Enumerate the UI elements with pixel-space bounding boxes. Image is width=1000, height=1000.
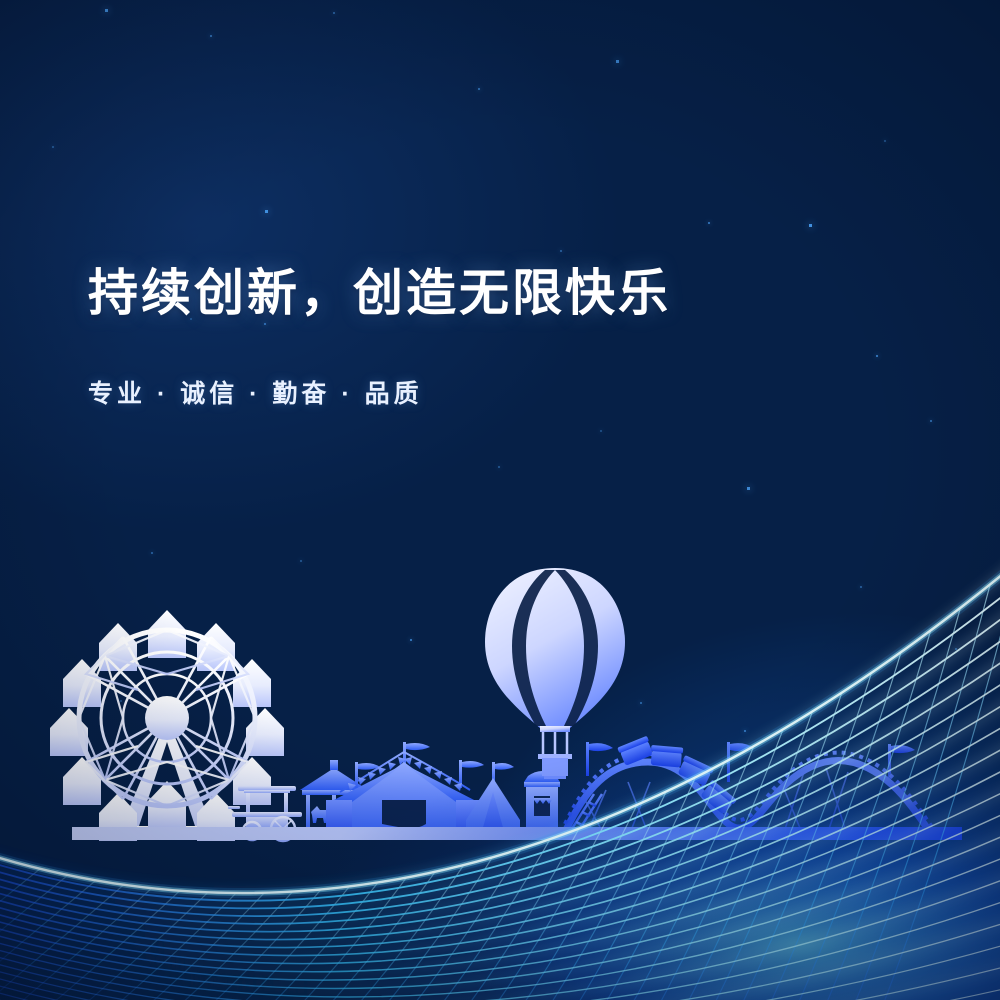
wave-rib [37, 891, 180, 1000]
wave-rib [12, 888, 152, 1000]
background-base [0, 0, 1000, 1000]
star-particle [708, 222, 710, 224]
wave-rib [650, 711, 812, 1000]
wave-line [0, 995, 1000, 1000]
wave-rib [277, 872, 435, 1000]
vendor-cart [228, 786, 302, 841]
wave-rib [196, 887, 350, 1000]
wave-line [0, 963, 1000, 1000]
star-particle [52, 146, 54, 148]
starfield [0, 0, 1000, 1000]
wave-line [0, 761, 1000, 963]
star-particle [955, 648, 957, 650]
wave-rib [864, 561, 1000, 1000]
wave-line [0, 650, 1000, 924]
wave-rib [474, 805, 637, 1000]
wave-crest-line [0, 560, 1000, 893]
wave-curves-glow [0, 560, 1000, 1000]
wave-rib [741, 652, 901, 1000]
hot-air-balloon [485, 568, 625, 779]
background-glow-bottomright [0, 0, 1000, 1000]
wave-line [0, 784, 1000, 972]
wave-crest-line [0, 560, 1000, 893]
wave-line [0, 851, 1000, 997]
carousel-horse [340, 806, 358, 823]
star-particle [265, 210, 268, 213]
wave-line [0, 940, 1000, 1000]
star-particle [809, 224, 812, 227]
wave-line [0, 739, 1000, 955]
star-particle [747, 487, 750, 490]
wave-line [0, 918, 1000, 1000]
wave-rib [142, 892, 293, 1000]
wave-line [0, 694, 1000, 939]
wave-rib [0, 869, 40, 917]
wave-line [0, 829, 1000, 989]
wave-crest-line [0, 560, 1000, 893]
wave-rib [446, 817, 608, 1000]
star-particle [333, 12, 335, 14]
star-particle [860, 586, 862, 588]
star-particle [876, 355, 878, 357]
wave-line [0, 605, 1000, 909]
wave-line [0, 784, 1000, 972]
wave-mesh-ribs [0, 561, 1000, 1000]
wave-rib [389, 839, 550, 1000]
coaster-car [677, 755, 714, 787]
star-particle [640, 702, 642, 704]
wave-line [0, 627, 1000, 916]
coaster-car [650, 745, 684, 768]
wave-rib [710, 673, 871, 1000]
wave-line [0, 963, 1000, 1000]
star-particle [210, 35, 212, 37]
wave-rib [503, 792, 666, 1000]
wave-rib [0, 885, 124, 1000]
vignette-overlay [0, 0, 1000, 1000]
ticket-booth [524, 771, 560, 838]
park-ground [72, 827, 962, 840]
wave-rib [802, 608, 961, 1000]
big-top-tent [326, 742, 484, 838]
wave-line [0, 985, 1000, 1000]
wave-line [0, 873, 1000, 1000]
wave-rib [305, 865, 464, 1000]
star-particle [410, 639, 412, 641]
wave-line [0, 995, 1000, 1000]
star-particle [120, 700, 122, 702]
wave-line [0, 560, 1000, 893]
page-subtitle: 专业 · 诚信 · 勤奋 · 品质 [88, 374, 423, 410]
wave-rib [771, 631, 931, 1000]
wave-rib [561, 762, 724, 1000]
roller-coaster [565, 736, 934, 838]
wave-rib [532, 778, 695, 1000]
wave-rib [169, 890, 321, 1000]
background-glow-topleft [0, 0, 1000, 1000]
banner-canvas: 持续创新，创造无限快乐 专业 · 诚信 · 勤奋 · 品质 [0, 0, 1000, 1000]
star-particle [105, 9, 108, 12]
wave-line [0, 717, 1000, 948]
wave-rib [89, 893, 236, 1000]
wave-rib [833, 584, 990, 1000]
wave-line [0, 672, 1000, 932]
star-particle [930, 420, 932, 422]
wave-line [0, 806, 1000, 980]
glowing-mesh-wave [0, 0, 1000, 1000]
wave-rib [63, 892, 208, 1000]
star-particle [560, 250, 562, 252]
wave-rib [116, 893, 265, 1000]
wave-line [0, 650, 1000, 924]
wave-line [0, 560, 1000, 893]
carousel-small [300, 760, 368, 834]
star-particle [884, 140, 886, 142]
wave-rib [250, 878, 407, 1000]
star-particle [600, 430, 602, 432]
star-particle [478, 88, 480, 90]
wave-rib [0, 880, 96, 974]
star-particle [151, 552, 153, 554]
star-particle [744, 730, 746, 732]
star-particle [300, 560, 302, 562]
ferris-wheel [50, 610, 284, 841]
wave-line [0, 829, 1000, 989]
page-title: 持续创新，创造无限快乐 [88, 264, 671, 323]
coaster-car [700, 780, 737, 816]
wave-curves [0, 560, 1000, 1000]
wave-line [0, 896, 1000, 1000]
wave-rib [361, 849, 522, 1000]
wave-line [0, 739, 1000, 955]
wave-line [0, 605, 1000, 909]
peaked-tent [466, 762, 520, 838]
wave-rib [223, 883, 378, 1000]
wave-line [0, 918, 1000, 1000]
star-particle [498, 466, 500, 468]
wave-line [0, 694, 1000, 939]
wave-rib [591, 746, 754, 1000]
coaster-car [617, 736, 654, 767]
wave-line [0, 873, 1000, 1000]
amusement-park-scene [0, 0, 1000, 1000]
wave-rib [417, 829, 579, 1000]
wave-line [0, 582, 1000, 900]
wave-rib [0, 875, 68, 946]
wave-rib [680, 693, 842, 1000]
wave-rib [333, 857, 493, 1000]
wave-rib [620, 729, 783, 1000]
wave-crest [0, 560, 1000, 893]
star-particle [616, 60, 619, 63]
carousel-horse [311, 806, 329, 823]
star-particle [264, 323, 266, 325]
